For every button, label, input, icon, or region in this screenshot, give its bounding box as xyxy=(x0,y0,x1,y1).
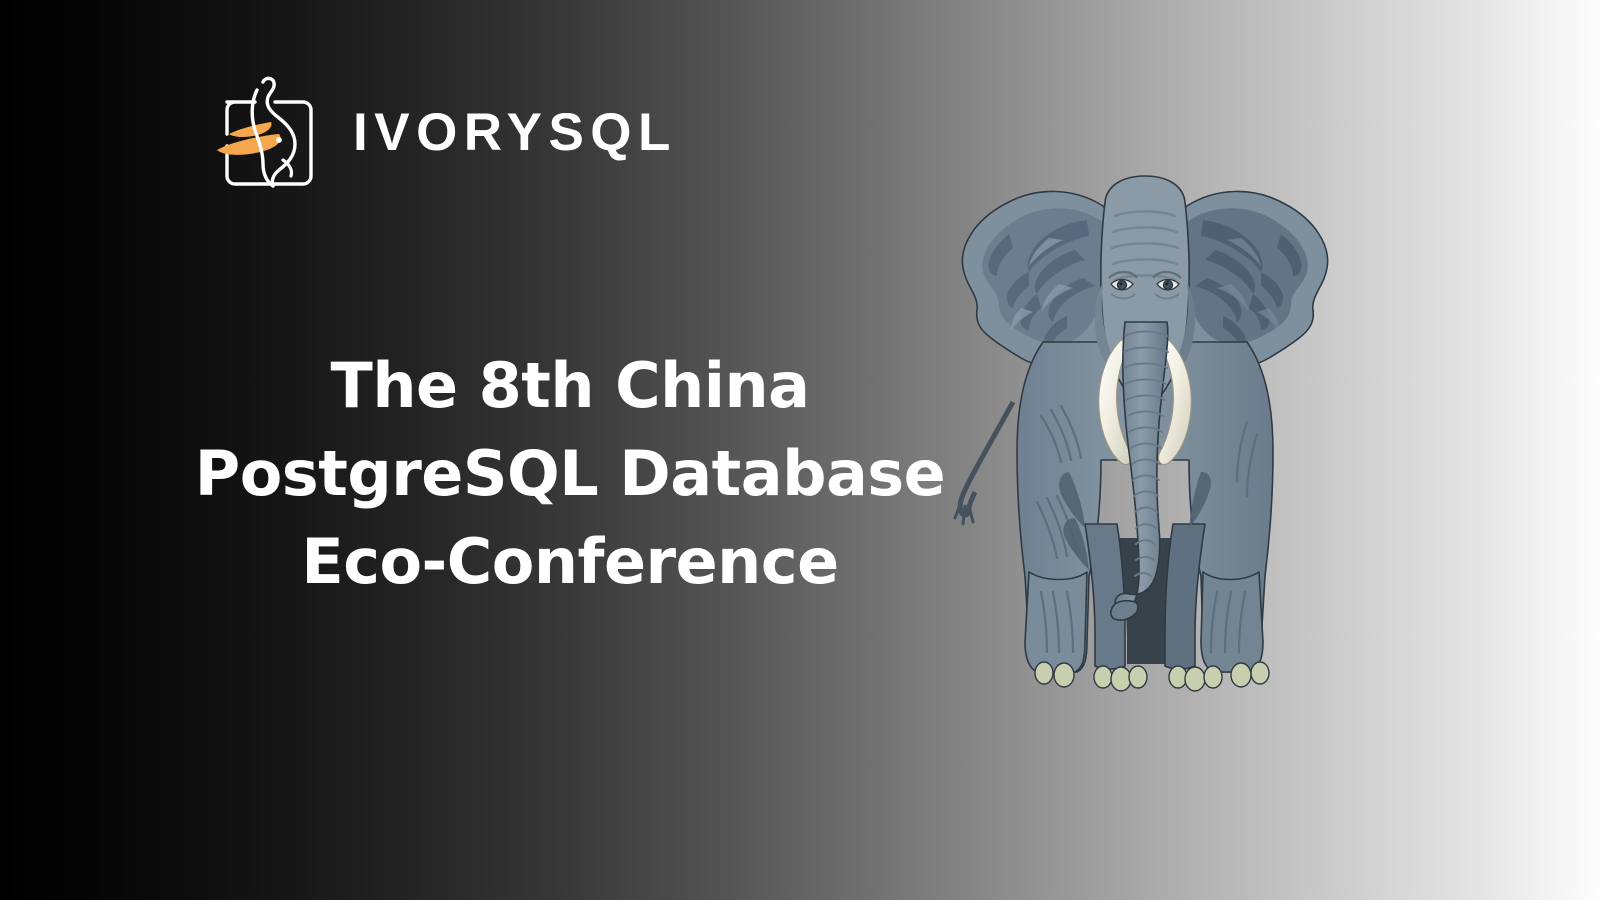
conference-banner: IVORYSQL The 8th China PostgreSQL Databa… xyxy=(0,0,1600,900)
conference-title-line-1: The 8th China xyxy=(145,342,995,430)
brand-logo-lockup[interactable]: IVORYSQL xyxy=(205,72,677,192)
ivorysql-elephant-logo-icon xyxy=(205,72,325,192)
conference-title-line-3: Eco-Conference xyxy=(145,518,995,606)
conference-title: The 8th China PostgreSQL Database Eco-Co… xyxy=(145,342,995,606)
conference-title-line-2: PostgreSQL Database xyxy=(145,430,995,518)
brand-wordmark: IVORYSQL xyxy=(353,106,677,159)
elephant-illustration xyxy=(925,172,1365,702)
